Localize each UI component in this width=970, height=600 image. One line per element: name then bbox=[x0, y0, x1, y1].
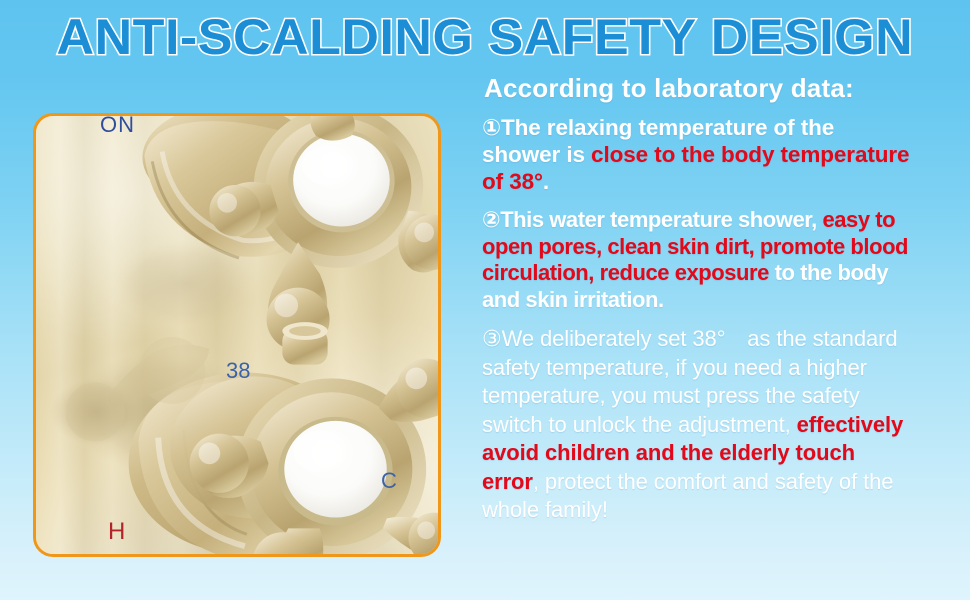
safety-switch-button bbox=[282, 322, 327, 364]
list-marker: ② bbox=[482, 207, 500, 232]
body-text: , protect the comfort and safety of the … bbox=[482, 469, 893, 523]
benefit-paragraph-3: ③We deliberately set 38° as the standard… bbox=[482, 325, 912, 525]
benefit-paragraph-2: ②This water temperature shower, easy to … bbox=[482, 207, 912, 313]
valve-illustration bbox=[36, 116, 438, 554]
product-photo-frame: ON 38 H C bbox=[33, 113, 441, 557]
benefit-paragraph-1: ①The relaxing temperature of the shower … bbox=[482, 114, 912, 195]
infographic-banner: ANTI-SCALDING SAFETY DESIGN bbox=[0, 0, 970, 600]
list-marker: ③ bbox=[482, 326, 502, 351]
page-title: ANTI-SCALDING SAFETY DESIGN bbox=[57, 11, 914, 63]
lab-data-heading: According to laboratory data: bbox=[484, 72, 912, 104]
body-text: This water temperature shower, bbox=[500, 207, 822, 232]
list-marker: ① bbox=[482, 115, 501, 140]
banner-title-bar: ANTI-SCALDING SAFETY DESIGN bbox=[0, 4, 970, 70]
copy-column: According to laboratory data: ①The relax… bbox=[482, 72, 912, 533]
body-text: . bbox=[543, 169, 549, 194]
